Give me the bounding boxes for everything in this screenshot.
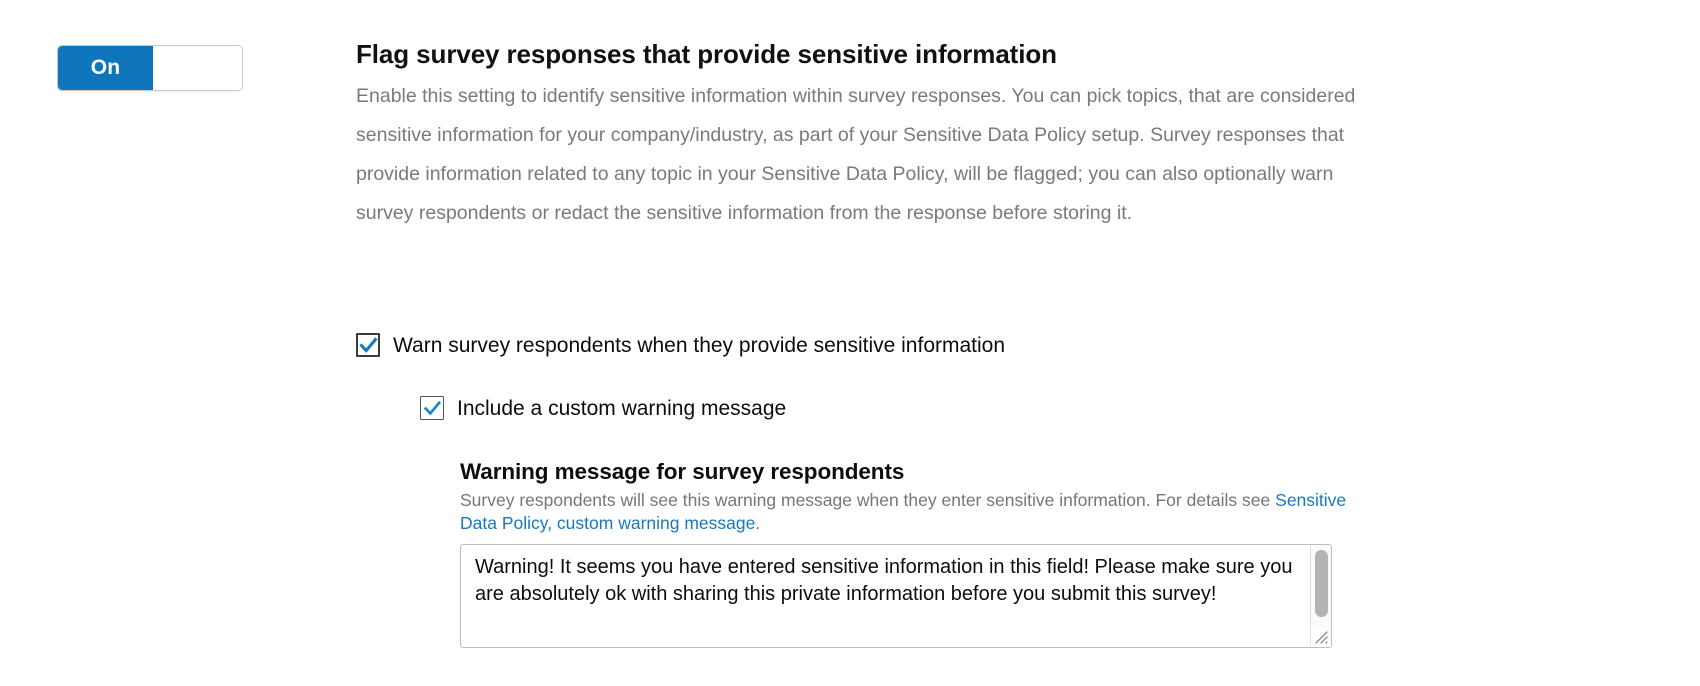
section-description: Enable this setting to identify sensitiv… — [356, 77, 1356, 233]
toggle-on-label: On — [58, 46, 153, 90]
warning-message-help-text: Survey respondents will see this warning… — [460, 489, 1365, 535]
checkbox-label-warn-respondents: Warn survey respondents when they provid… — [393, 335, 1005, 356]
flag-sensitive-responses-toggle[interactable]: On — [57, 45, 243, 91]
checkbox-row-warn-respondents[interactable]: Warn survey respondents when they provid… — [356, 333, 1005, 357]
toggle-knob[interactable] — [153, 46, 242, 90]
warning-message-textarea-wrapper — [460, 544, 1332, 648]
checkbox-include-custom-warning[interactable] — [420, 396, 444, 420]
checkbox-row-include-custom-warning[interactable]: Include a custom warning message — [420, 396, 786, 420]
textarea-resize-handle[interactable] — [1311, 627, 1330, 646]
sensitive-info-settings-section: Flag survey responses that provide sensi… — [356, 38, 1676, 233]
textarea-scrollbar-thumb[interactable] — [1315, 550, 1328, 617]
warning-message-title: Warning message for survey respondents — [460, 458, 1380, 485]
help-text-prefix: Survey respondents will see this warning… — [460, 490, 1275, 510]
flag-sensitive-responses-toggle-wrapper: On — [57, 45, 243, 91]
checkbox-warn-respondents[interactable] — [356, 333, 380, 357]
resize-grip-icon — [1311, 627, 1330, 646]
custom-warning-message-block: Warning message for survey respondents S… — [460, 458, 1380, 648]
warning-message-textarea[interactable] — [475, 554, 1297, 646]
checkbox-label-include-custom-warning: Include a custom warning message — [457, 398, 786, 419]
check-icon — [423, 399, 442, 418]
check-icon — [359, 336, 378, 355]
help-text-suffix: . — [755, 513, 760, 533]
page-title: Flag survey responses that provide sensi… — [356, 38, 1676, 71]
